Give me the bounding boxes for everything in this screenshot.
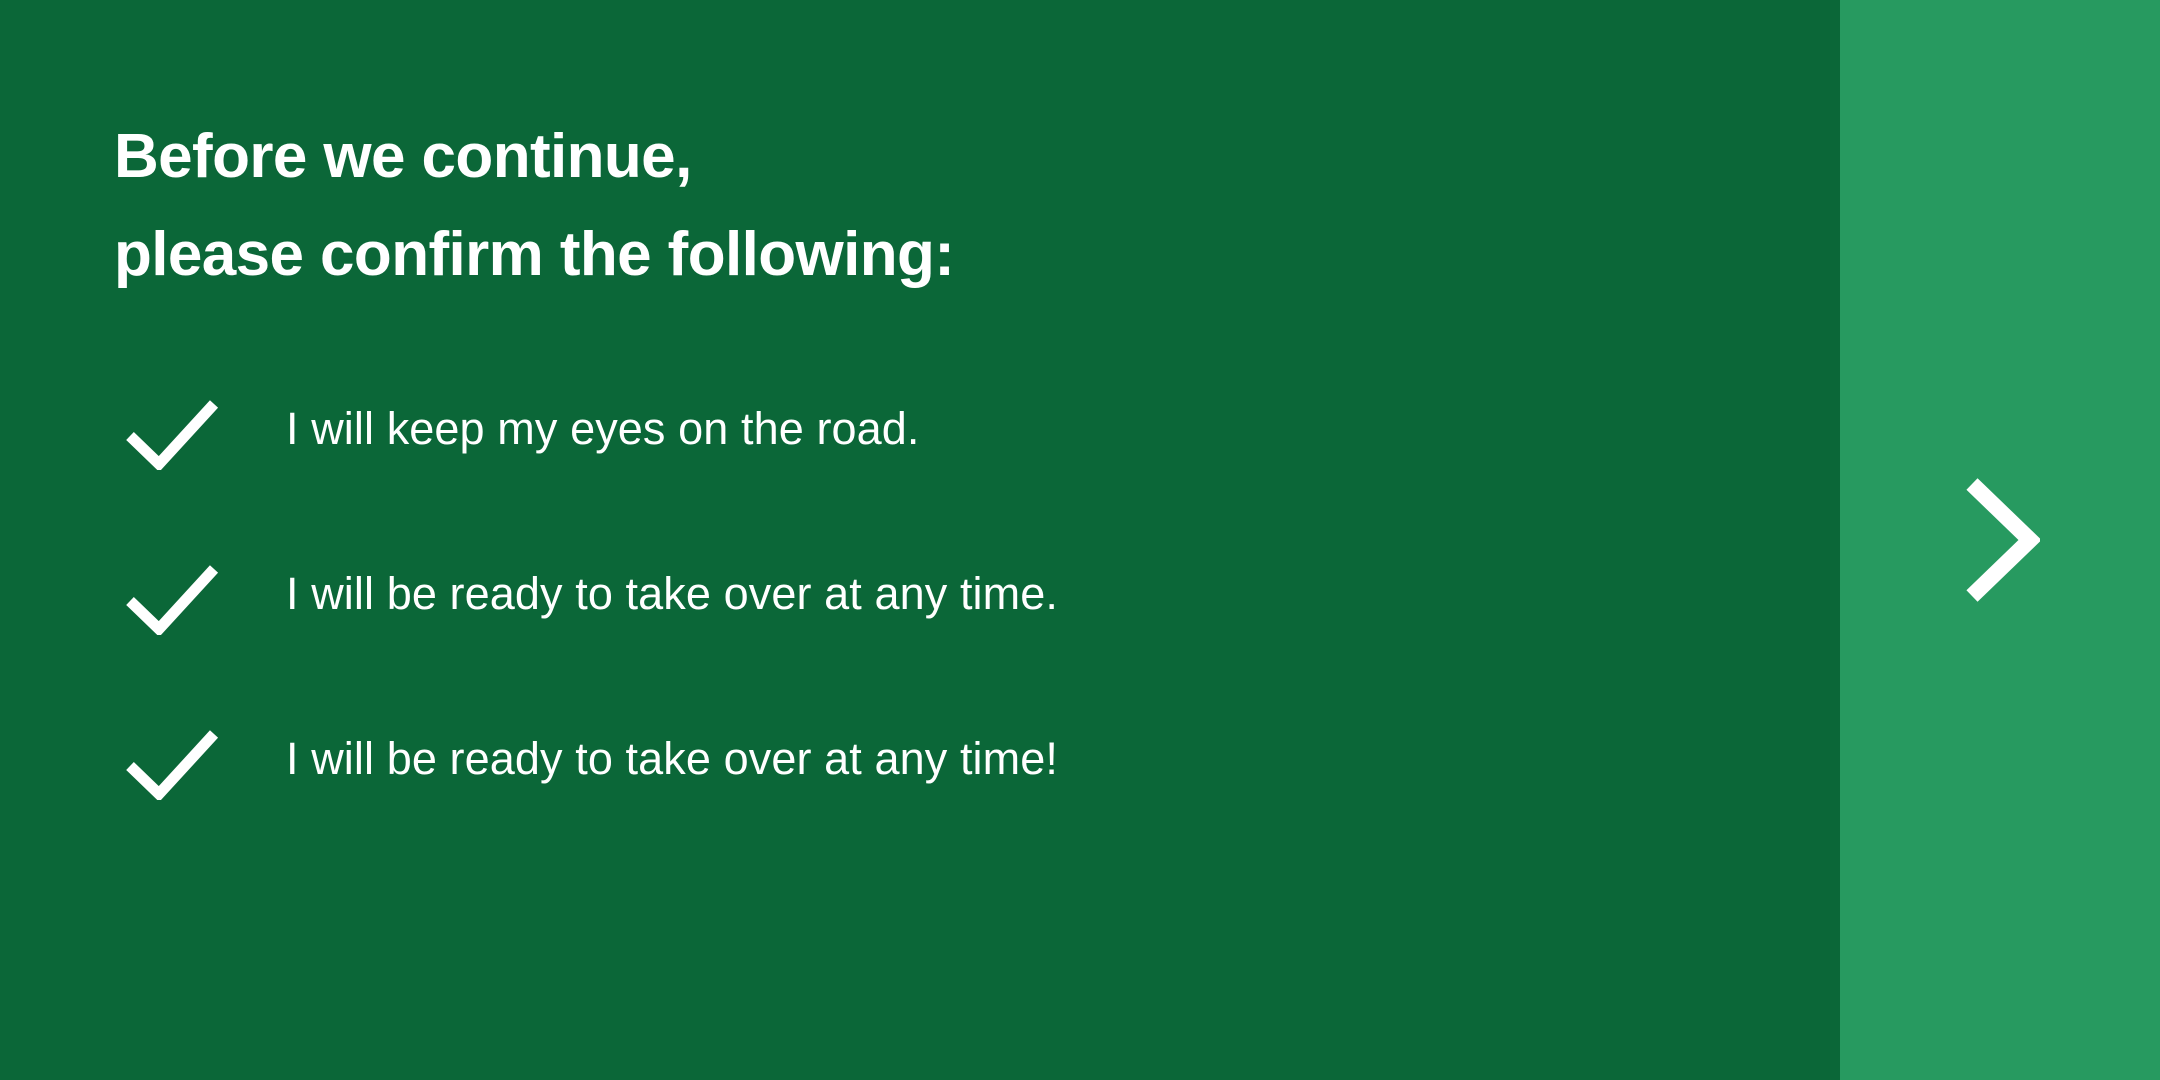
confirmation-checklist: I will keep my eyes on the road. I will … [0,398,1840,893]
checklist-item[interactable]: I will keep my eyes on the road. [0,398,1840,563]
checklist-item-label: I will be ready to take over at any time… [286,728,1840,790]
checklist-item[interactable]: I will be ready to take over at any time… [0,728,1840,893]
check-icon [126,398,218,470]
check-icon [126,563,218,635]
checklist-item-label: I will be ready to take over at any time… [286,563,1840,625]
checklist-item-label: I will keep my eyes on the road. [286,398,1840,460]
next-button[interactable] [1840,0,2160,1080]
main-panel: Before we continue, please confirm the f… [0,0,1840,1080]
check-icon [126,728,218,800]
checklist-item[interactable]: I will be ready to take over at any time… [0,563,1840,728]
page-title: Before we continue, please confirm the f… [114,108,954,304]
confirmation-screen: Before we continue, please confirm the f… [0,0,2160,1080]
chevron-right-icon[interactable] [1960,478,2040,602]
